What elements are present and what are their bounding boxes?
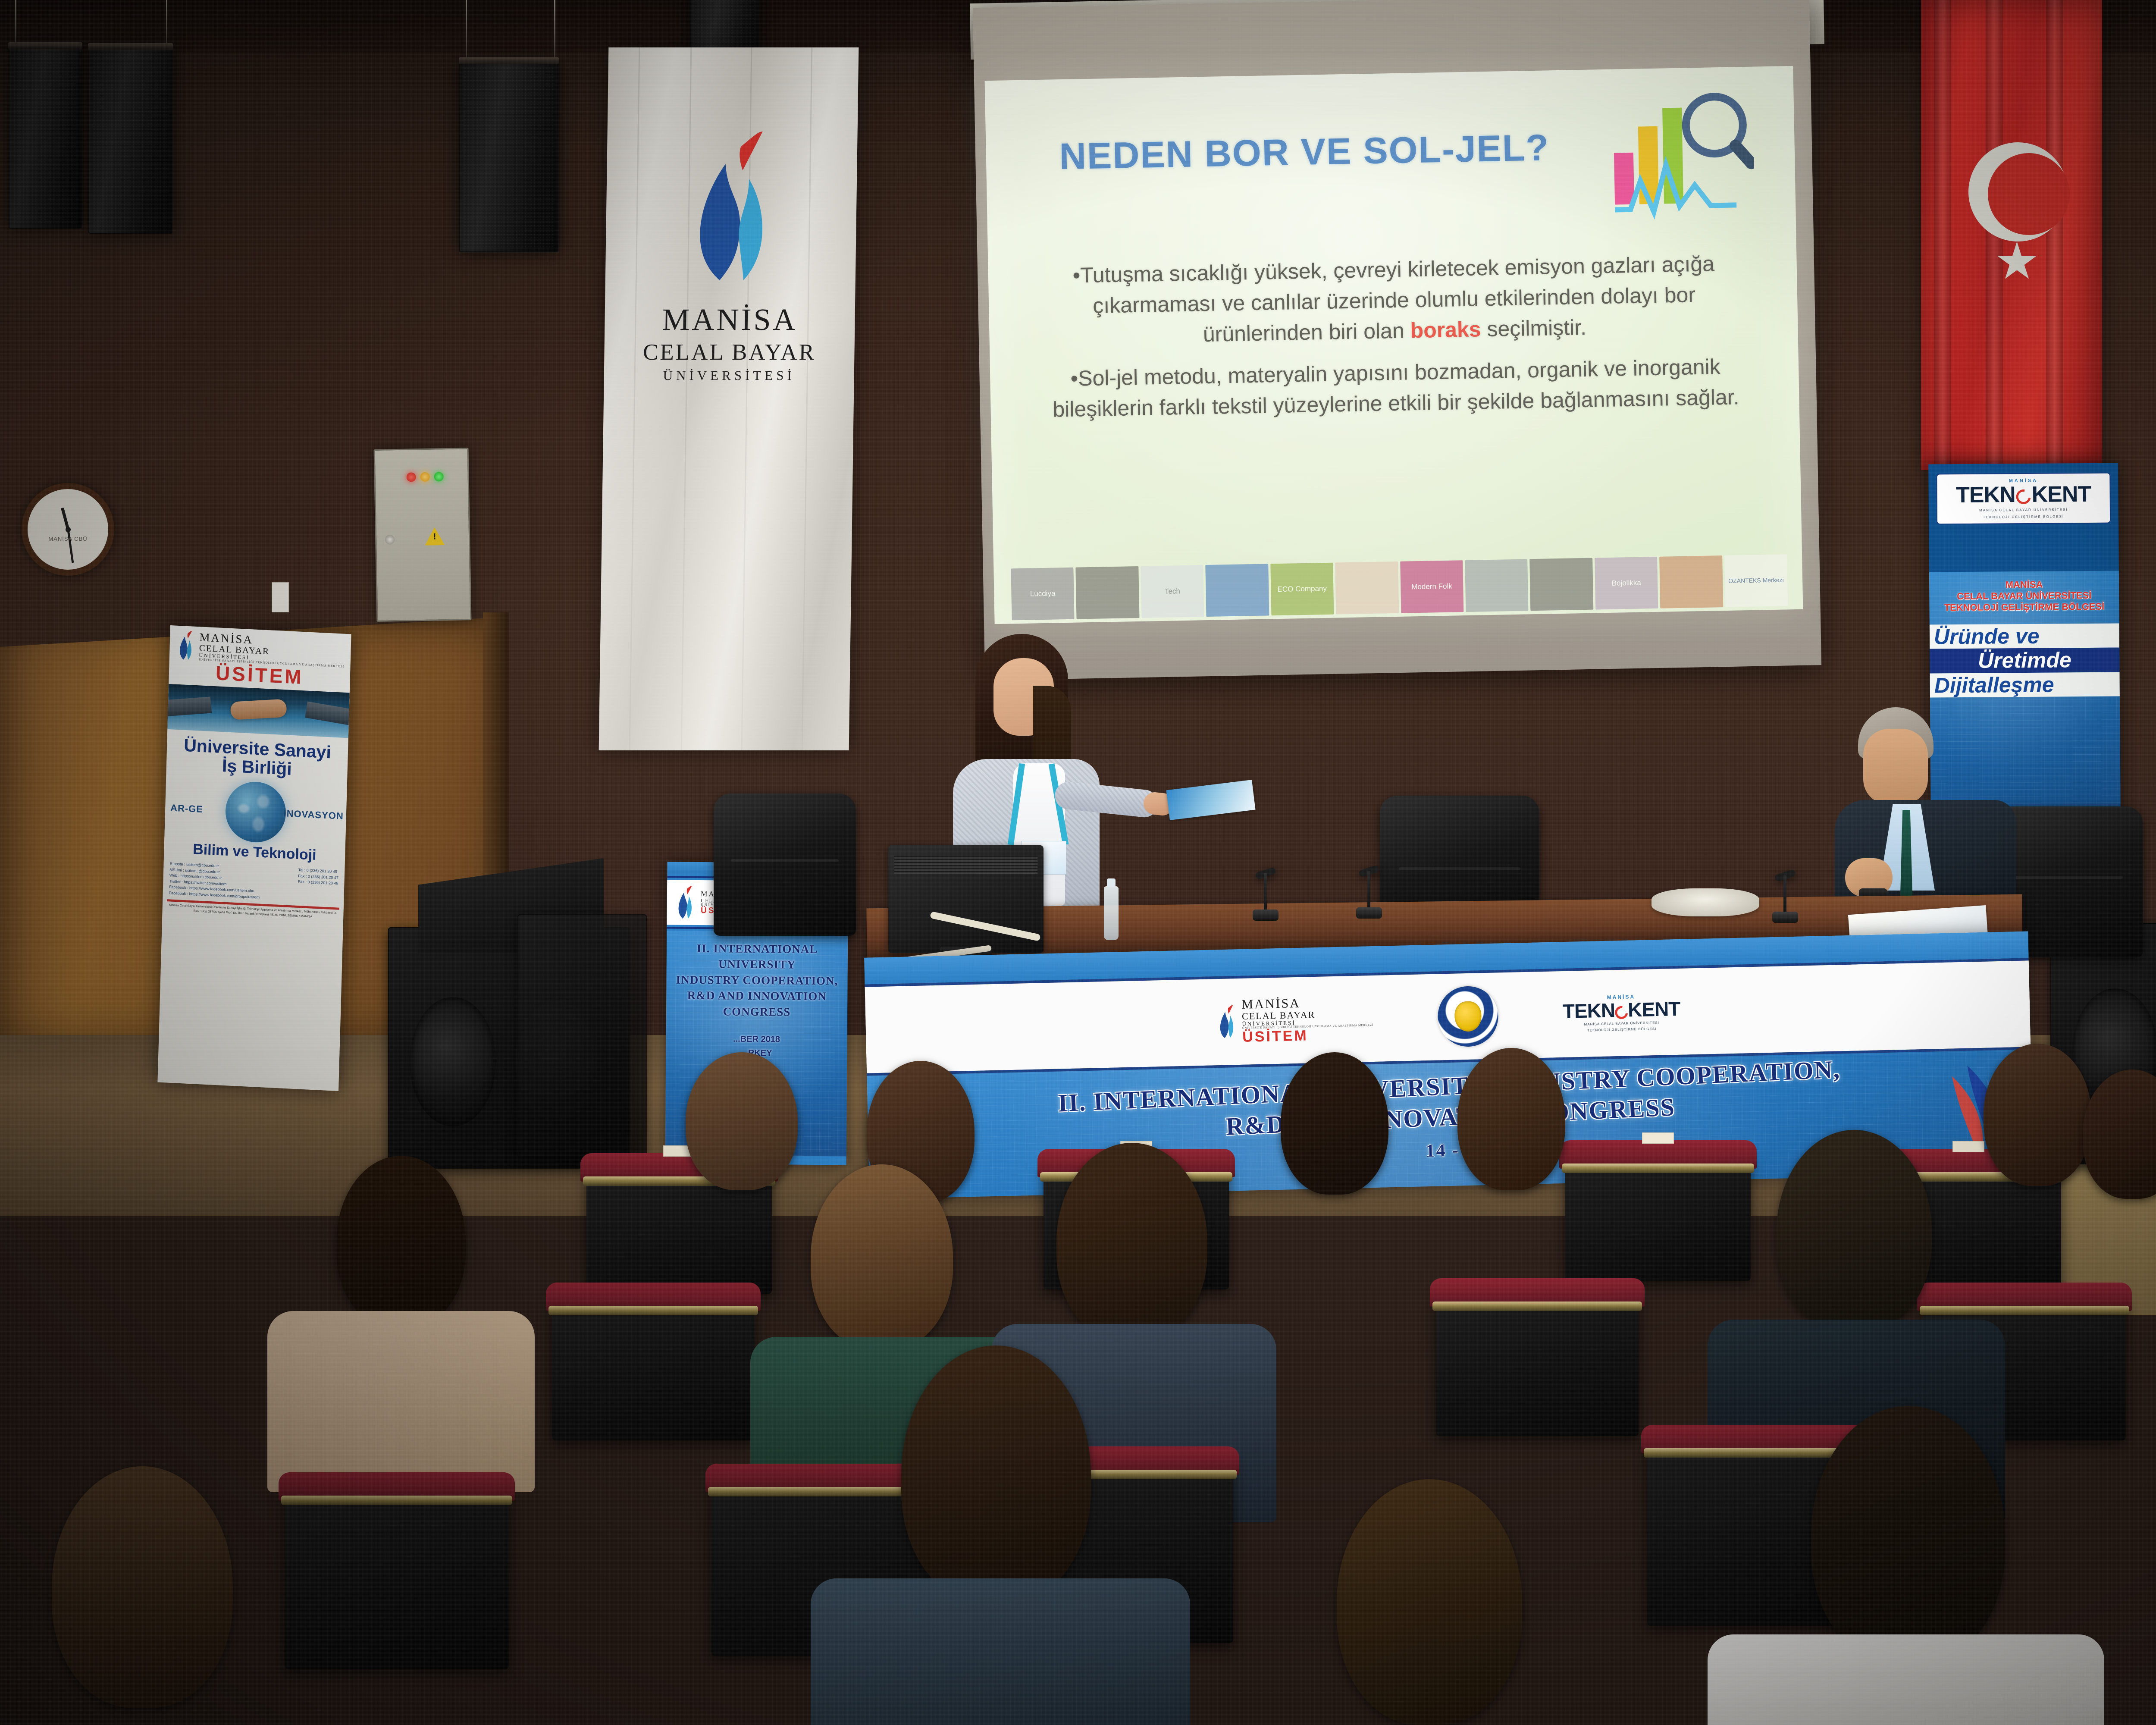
usitem-contact-right: Tel : 0 (236) 201 20 45 Fax : 0 (236) 20…: [298, 867, 339, 904]
microphone-stem: [1264, 873, 1267, 912]
seat-trim: [1920, 1306, 2129, 1315]
slide-thumbnail: Lucdiya: [1011, 568, 1075, 621]
teknokent-slogan-line-3: Dijitalleşme: [1930, 672, 2120, 698]
desk-microphone[interactable]: [1253, 858, 1283, 921]
microphone-base: [1772, 912, 1798, 923]
floor-subwoofer: [517, 914, 647, 1156]
slide-thumbnail: OZANTEKS Merkezi: [1724, 554, 1788, 607]
audience-shoulders: [1708, 1634, 2104, 1725]
audience-shoulders: [811, 1578, 1190, 1725]
slide-thumbnail: [1206, 564, 1269, 617]
audience-head: [1457, 1048, 1565, 1190]
bar-chart-magnifier-icon: [1610, 88, 1755, 220]
mcbu-logo-text: MANİSA CELAL BAYAR ÜNİVERSİTESİ ÜNİVERSİ…: [1241, 995, 1373, 1045]
usitem-globe-label-right: İNOVASYON: [283, 808, 344, 822]
slide-bullet-2: •Sol-jel metodu, materyalin yapısını boz…: [1042, 351, 1750, 425]
audience-head: [1281, 1052, 1388, 1195]
electrical-distribution-panel[interactable]: [374, 448, 472, 622]
slide-thumbnail-strip: Lucdiya Tech ECO Company Modern Folk Boj…: [1011, 541, 1788, 620]
audience-head: [811, 1164, 953, 1350]
clock-brand-text: MANİSA CBÜ: [28, 536, 108, 542]
teknokent-wordmark: TEKNKENT: [1940, 483, 2107, 507]
slide-thumbnail: Bojolikka: [1595, 557, 1658, 610]
rollup-title-line-5: CONGRESS: [666, 1003, 847, 1020]
banner-line-1: MANİSA: [605, 302, 855, 338]
usitem-globe-graphic: AR-GE İNOVASYON: [164, 773, 347, 851]
desk-microphone[interactable]: [1772, 860, 1802, 923]
flag-fold: [1934, 0, 1951, 470]
mcbu-usitem-logo: MANİSA CELAL BAYAR ÜNİVERSİTESİ ÜNİVERSİ…: [1215, 995, 1373, 1045]
slide-thumbnail: Tech: [1141, 565, 1204, 618]
rollup-date: ...BER 2018: [666, 1032, 847, 1047]
seat-tag: [1952, 1141, 1984, 1152]
speaker-grille: [464, 67, 554, 248]
audience-head: [686, 1052, 798, 1190]
microphone-base: [1253, 910, 1279, 921]
chair-seam: [1399, 867, 1520, 870]
desk-microphone[interactable]: [1356, 856, 1386, 919]
slide-bullets: •Tutuşma sıcaklığı yüksek, çevreyi kirle…: [1040, 248, 1750, 436]
teknokent-slogan-line-1: Üründe ve: [1930, 623, 2119, 649]
monitor-vent: [894, 856, 1037, 874]
speaker-wire: [466, 0, 467, 65]
usitem-globe-label-left: AR-GE: [170, 803, 204, 815]
auditorium-seat[interactable]: [1565, 1151, 1751, 1281]
banner-text-block: MANİSA CELAL BAYAR ÜNİVERSİTESİ: [604, 302, 856, 383]
banner-line-3: ÜNİVERSİTESİ: [604, 368, 855, 383]
conference-hall-photo: MANİSA CELAL BAYAR ÜNİVERSİTESİ NEDEN BO…: [0, 0, 2156, 1725]
auditorium-seat[interactable]: [285, 1483, 509, 1669]
teknokent-wordmark: TEKNKENT: [1562, 999, 1680, 1021]
rollup-title-line-1: II. INTERNATIONAL: [667, 941, 848, 957]
handshake-sleeve-right: [305, 701, 350, 726]
clock-minute-hand: [67, 529, 74, 563]
banner-line-2: CELAL BAYAR: [604, 339, 855, 365]
rollup-title-line-3: INDUSTRY COOPERATION,: [666, 972, 847, 988]
teknokent-red-line-1: MANİSA: [1929, 578, 2119, 591]
audience-head: [1056, 1143, 1207, 1341]
audience-shoulders: [267, 1311, 535, 1492]
mcbu-flame-logo: [175, 630, 196, 661]
auditorium-seat[interactable]: [1436, 1289, 1639, 1436]
mcbu-flame-logo: [1215, 1004, 1238, 1039]
audience-head: [1777, 1130, 1932, 1333]
teknokent-slogan: Üründe ve Üretimde Dijitalleşme: [1930, 623, 2120, 698]
slide-thumbnail: Modern Folk: [1400, 560, 1464, 613]
wall-clock: MANİSA CBÜ: [22, 483, 114, 576]
clock-center-pin: [66, 527, 71, 532]
presentation-slide: NEDEN BOR VE SOL-JEL? •Tutuşma sıcaklığı…: [985, 66, 1803, 624]
ceiling-speaker: [88, 48, 172, 234]
slide-bullet-1: •Tutuşma sıcaklığı yüksek, çevreyi kirle…: [1040, 248, 1749, 353]
handshake-photo: [167, 684, 350, 738]
seat-trim: [548, 1306, 758, 1315]
teknokent-sub-2: TEKNOLOJİ GELİŞTİRME BÖLGESİ: [1940, 514, 2107, 521]
mcbu-flame-logo: [674, 885, 697, 920]
office-chair[interactable]: [714, 793, 856, 936]
indicator-led-green: [434, 472, 443, 481]
indicator-led-amber: [420, 472, 429, 482]
teknokent-logo: MANİSA TEKNKENT MANİSA CELAL BAYAR ÜNİVE…: [1562, 993, 1680, 1034]
speaker-wire: [554, 0, 555, 65]
teknokent-sub-1: MANİSA CELAL BAYAR ÜNİVERSİTESİ: [1940, 507, 2107, 514]
handshake-sleeve-left: [167, 696, 212, 717]
seat-trim: [281, 1496, 512, 1505]
banner-fold: [629, 47, 640, 750]
handshake-hands: [230, 699, 287, 720]
speaker-grille: [13, 52, 78, 224]
usitem-poster-left: MANİSA CELAL BAYAR ÜNİVERSİTESİ ÜNİVERSİ…: [157, 625, 351, 1091]
ceiling-speaker: [459, 63, 558, 252]
teknokent-slogan-line-2: Üretimde: [1930, 648, 2119, 674]
panel-latch[interactable]: [385, 535, 395, 544]
microphone-stem: [1367, 871, 1370, 910]
teknokent-logo-box: MANİSA TEKNKENT MANİSA CELAL BAYAR ÜNİVE…: [1936, 473, 2111, 525]
seal-grape-emblem: [1454, 1001, 1482, 1032]
turkish-flag: [1921, 0, 2102, 470]
slide-thumbnail: [1465, 559, 1529, 612]
flag-fold: [2046, 0, 2063, 470]
ceiling-speaker: [9, 47, 82, 229]
teknokent-sub-2: TEKNOLOJİ GELİŞTİRME BÖLGESİ: [1563, 1026, 1681, 1033]
bottle-cap: [1107, 878, 1116, 887]
chamber-of-commerce-seal: [1437, 985, 1499, 1047]
light-switch-plate[interactable]: [272, 582, 289, 612]
auditorium-seat[interactable]: [552, 1294, 755, 1440]
audience-head: [52, 1466, 233, 1708]
seat-tag: [1642, 1132, 1674, 1144]
mcbu-flame-logo: [677, 129, 787, 285]
banner-fold: [802, 47, 813, 750]
speaker-cone: [410, 997, 496, 1126]
rollup-title: II. INTERNATIONAL UNIVERSITY INDUSTRY CO…: [666, 941, 848, 1020]
slide-thumbnail: ECO Company: [1270, 563, 1334, 616]
teknokent-red-line-3: TEKNOLOJİ GELİŞTİRME BÖLGESİ: [1929, 601, 2119, 613]
slide-thumbnail: [1530, 558, 1594, 611]
rollup-title-line-2: UNIVERSITY: [667, 956, 848, 973]
rollup-title-line-4: R&D AND INNOVATION: [666, 988, 847, 1004]
teknokent-red-line-2: CELAL BAYAR ÜNİVERSİTESİ: [1929, 590, 2119, 602]
hanging-university-banner: MANİSA CELAL BAYAR ÜNİVERSİTESİ: [599, 47, 859, 750]
audience-head: [1811, 1406, 2005, 1665]
chocolate-plate: [1651, 888, 1759, 916]
teknokent-ring-icon: [2013, 486, 2034, 507]
mcbu-acronym: ÜSİTEM: [1242, 1027, 1374, 1045]
high-voltage-warning-icon: [425, 527, 445, 546]
slide-thumbnail: [1659, 555, 1723, 608]
chair-seam: [731, 859, 839, 862]
speaker-mount-cap: [88, 43, 173, 50]
audience-head: [336, 1156, 466, 1328]
slide-thumbnail: [1076, 566, 1140, 619]
microphone-stem: [1783, 875, 1786, 914]
audience-head: [901, 1345, 1091, 1604]
usitem-contact-block: E-posta : usitem@cbu.edu.tr MS-İmi : usi…: [163, 856, 345, 904]
slide-title: NEDEN BOR VE SOL-JEL?: [1059, 126, 1577, 178]
seat-trim: [1432, 1302, 1642, 1311]
chair-face: [1863, 729, 1928, 804]
speaker-mount-cap: [459, 57, 559, 64]
flag-crescent-cut: [1988, 153, 2070, 235]
seat-trim: [1562, 1164, 1754, 1173]
speaker-mount-cap: [8, 42, 82, 49]
speaker-grille: [93, 53, 168, 229]
teknokent-red-text: MANİSA CELAL BAYAR ÜNİVERSİTESİ TEKNOLOJ…: [1929, 571, 2119, 613]
audience-head: [1984, 1044, 2091, 1186]
indicator-led-red: [406, 472, 416, 482]
usitem-contact-left: E-posta : usitem@cbu.edu.tr MS-İmi : usi…: [169, 861, 260, 900]
globe-icon: [225, 781, 287, 844]
audience-head: [1337, 1479, 1522, 1725]
water-bottle[interactable]: [1104, 886, 1119, 940]
microphone-base: [1356, 907, 1382, 919]
slide-thumbnail: [1335, 561, 1399, 615]
